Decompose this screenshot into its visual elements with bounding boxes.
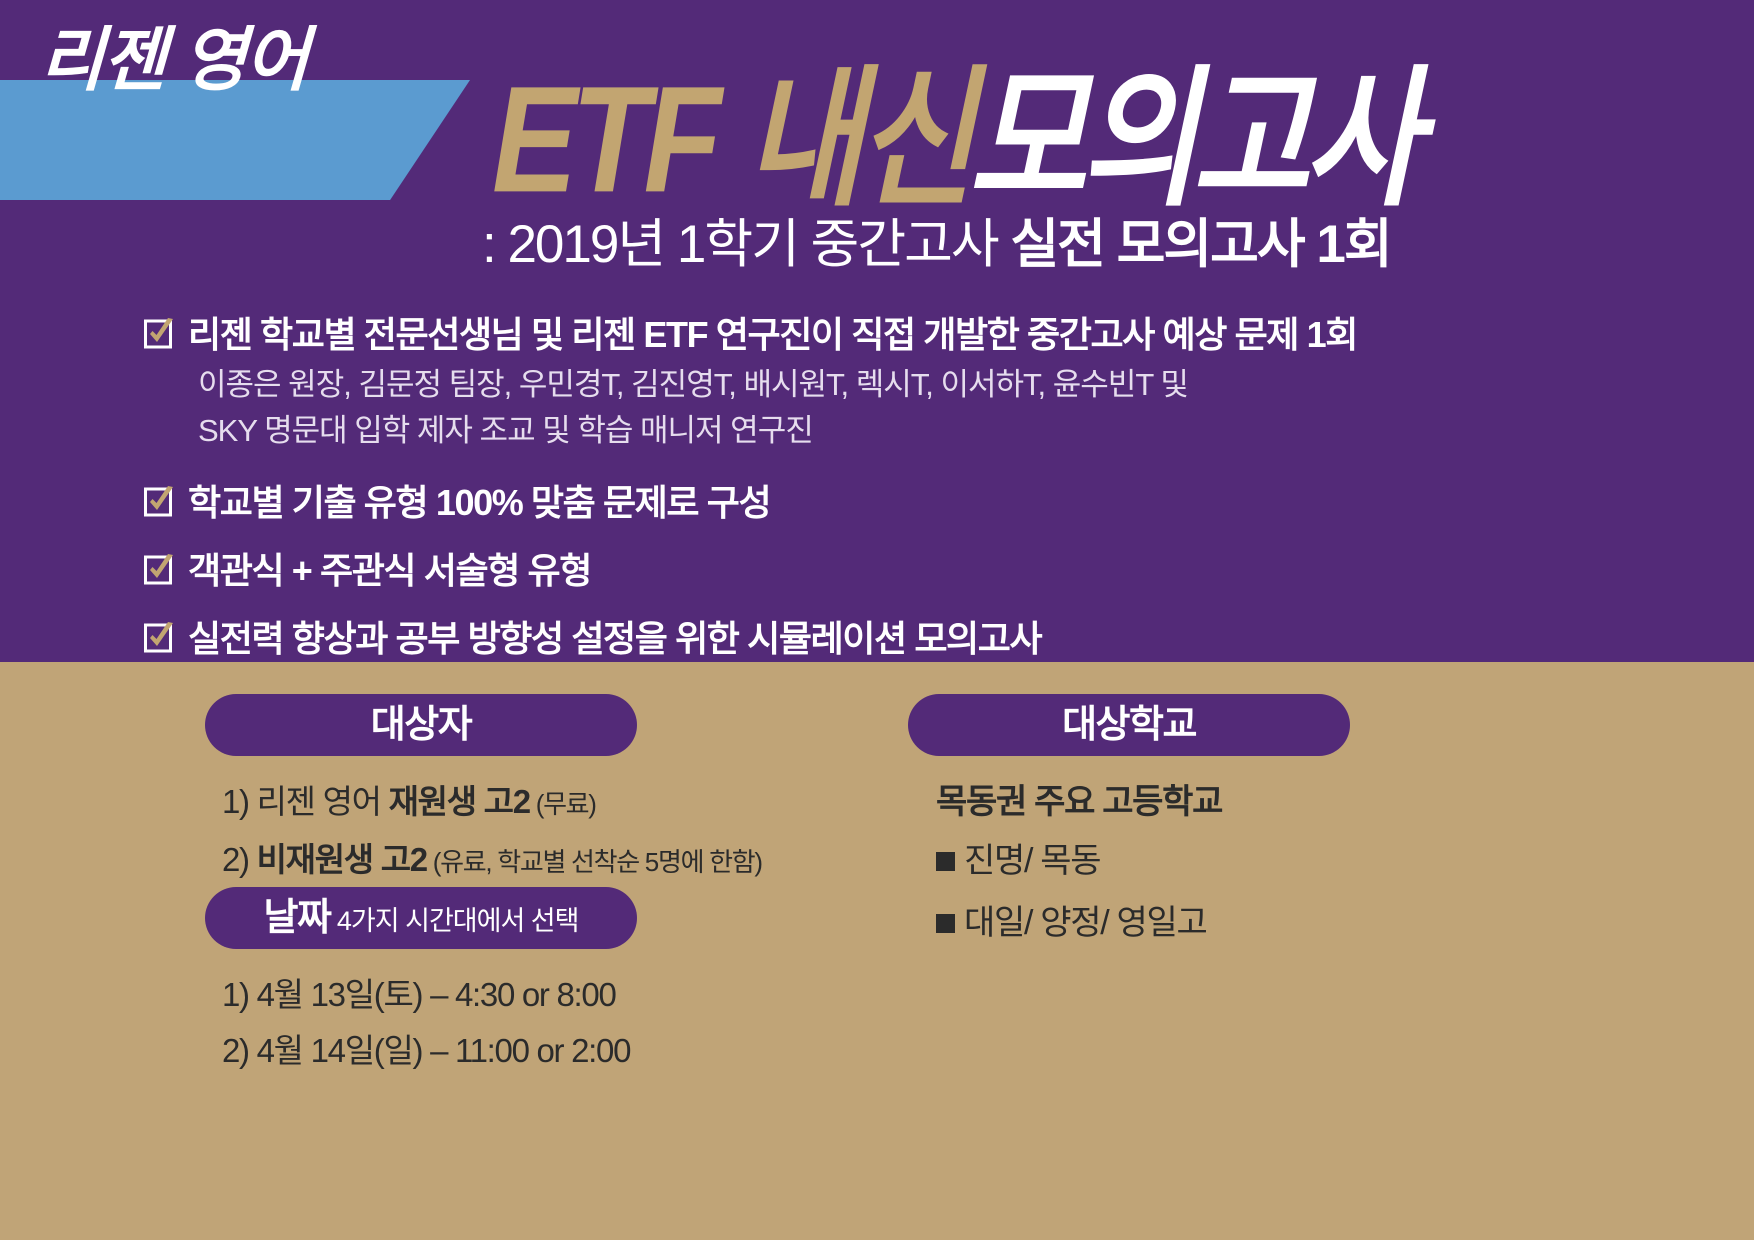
item-number: 2) — [222, 841, 257, 878]
feature-subline: SKY 명문대 입학 제자 조교 및 학습 매니저 연구진 — [198, 410, 1724, 452]
school-item-label: 진명/ 목동 — [964, 830, 1100, 892]
item-emphasis: 재원생 고2 — [389, 783, 530, 820]
header-purple-section: 리젠 영어 ETF 내신모의고사 : 2019년 1학기 중간고사 실전 모의고… — [0, 0, 1754, 662]
date-pill-note: 4가지 시간대에서 선택 — [330, 906, 578, 936]
item-note: (무료) — [530, 789, 596, 819]
feature-label: 리젠 학교별 전문선생님 및 리젠 ETF 연구진이 직접 개발한 중간고사 예… — [188, 310, 1357, 360]
list-item: 2) 4월 14일(일) – 11:00 or 2:00 — [222, 1023, 902, 1079]
feature-item: 실전력 향상과 공부 방향성 설정을 위한 시뮬레이션 모의고사 — [144, 614, 1724, 662]
square-bullet-icon — [936, 914, 955, 933]
brand-banner-label: 리젠 영어 — [38, 14, 308, 106]
target-school-list: 목동권 주요 고등학교 진명/ 목동 대일/ 양정/ 영일고 — [936, 774, 1636, 954]
square-bullet-icon — [936, 852, 955, 871]
list-item: 1) 리젠 영어 재원생 고2 (무료) — [222, 774, 902, 832]
feature-item: 객관식 + 주관식 서술형 유형 — [144, 546, 1724, 596]
right-column: 대상학교 목동권 주요 고등학교 진명/ 목동 대일/ 양정/ 영일고 — [900, 662, 1754, 1240]
item-number: 1) — [222, 783, 257, 820]
feature-label: 실전력 향상과 공부 방향성 설정을 위한 시뮬레이션 모의고사 — [188, 614, 1041, 662]
date-pill-label: 날짜 — [263, 897, 330, 939]
list-item: 대일/ 양정/ 영일고 — [936, 892, 1636, 954]
checkbox-checked-icon — [144, 622, 174, 654]
feature-label: 학교별 기출 유형 100% 맞춤 문제로 구성 — [188, 478, 770, 528]
checkbox-checked-icon — [144, 554, 174, 586]
item-emphasis: 비재원생 고2 — [257, 841, 427, 878]
feature-subline: 이종은 원장, 김문정 팀장, 우민경T, 김진영T, 배시원T, 렉시T, 이… — [198, 364, 1724, 406]
date-option-list: 1) 4월 13일(토) – 4:30 or 8:00 2) 4월 14일(일)… — [222, 967, 902, 1079]
feature-item: 학교별 기출 유형 100% 맞춤 문제로 구성 — [144, 478, 1724, 528]
checkbox-checked-icon — [144, 318, 174, 350]
poster-root: 리젠 영어 ETF 내신모의고사 : 2019년 1학기 중간고사 실전 모의고… — [0, 0, 1754, 1240]
title-gold-part: ETF 내신 — [492, 56, 969, 225]
list-item: 2) 비재원생 고2 (유료, 학교별 선착순 5명에 한함) — [222, 832, 902, 890]
details-tan-section: 대상자 1) 리젠 영어 재원생 고2 (무료) 2) 비재원생 고2 (유료,… — [0, 662, 1754, 1240]
target-school-pill: 대상학교 — [908, 694, 1350, 756]
left-column: 대상자 1) 리젠 영어 재원생 고2 (무료) 2) 비재원생 고2 (유료,… — [0, 662, 900, 1240]
item-note: (유료, 학교별 선착순 5명에 한함) — [427, 847, 762, 877]
feature-list: 리젠 학교별 전문선생님 및 리젠 ETF 연구진이 직접 개발한 중간고사 예… — [144, 310, 1724, 662]
list-item: 1) 4월 13일(토) – 4:30 or 8:00 — [222, 967, 902, 1023]
spacer — [144, 466, 1724, 478]
list-item: 진명/ 목동 — [936, 830, 1636, 892]
title-white-part: 모의고사 — [969, 56, 1416, 225]
item-lead: 리젠 영어 — [257, 783, 389, 820]
target-audience-list: 1) 리젠 영어 재원생 고2 (무료) 2) 비재원생 고2 (유료, 학교별… — [222, 774, 902, 890]
target-audience-pill: 대상자 — [205, 694, 637, 756]
feature-item: 리젠 학교별 전문선생님 및 리젠 ETF 연구진이 직접 개발한 중간고사 예… — [144, 310, 1724, 360]
subtitle-emphasis: 실전 모의고사 1회 — [1010, 215, 1390, 274]
target-school-pill-label: 대상학교 — [1062, 704, 1196, 746]
school-list-heading: 목동권 주요 고등학교 — [936, 774, 1636, 830]
checkbox-checked-icon — [144, 486, 174, 518]
school-item-label: 대일/ 양정/ 영일고 — [964, 892, 1206, 954]
page-subtitle: : 2019년 1학기 중간고사 실전 모의고사 1회 — [482, 212, 1391, 278]
target-audience-pill-label: 대상자 — [371, 704, 471, 746]
date-pill: 날짜 4가지 시간대에서 선택 — [205, 887, 637, 949]
subtitle-prefix: : 2019년 1학기 중간고사 — [482, 215, 1010, 274]
feature-label: 객관식 + 주관식 서술형 유형 — [188, 546, 591, 596]
page-title: ETF 내신모의고사 — [492, 58, 1416, 223]
